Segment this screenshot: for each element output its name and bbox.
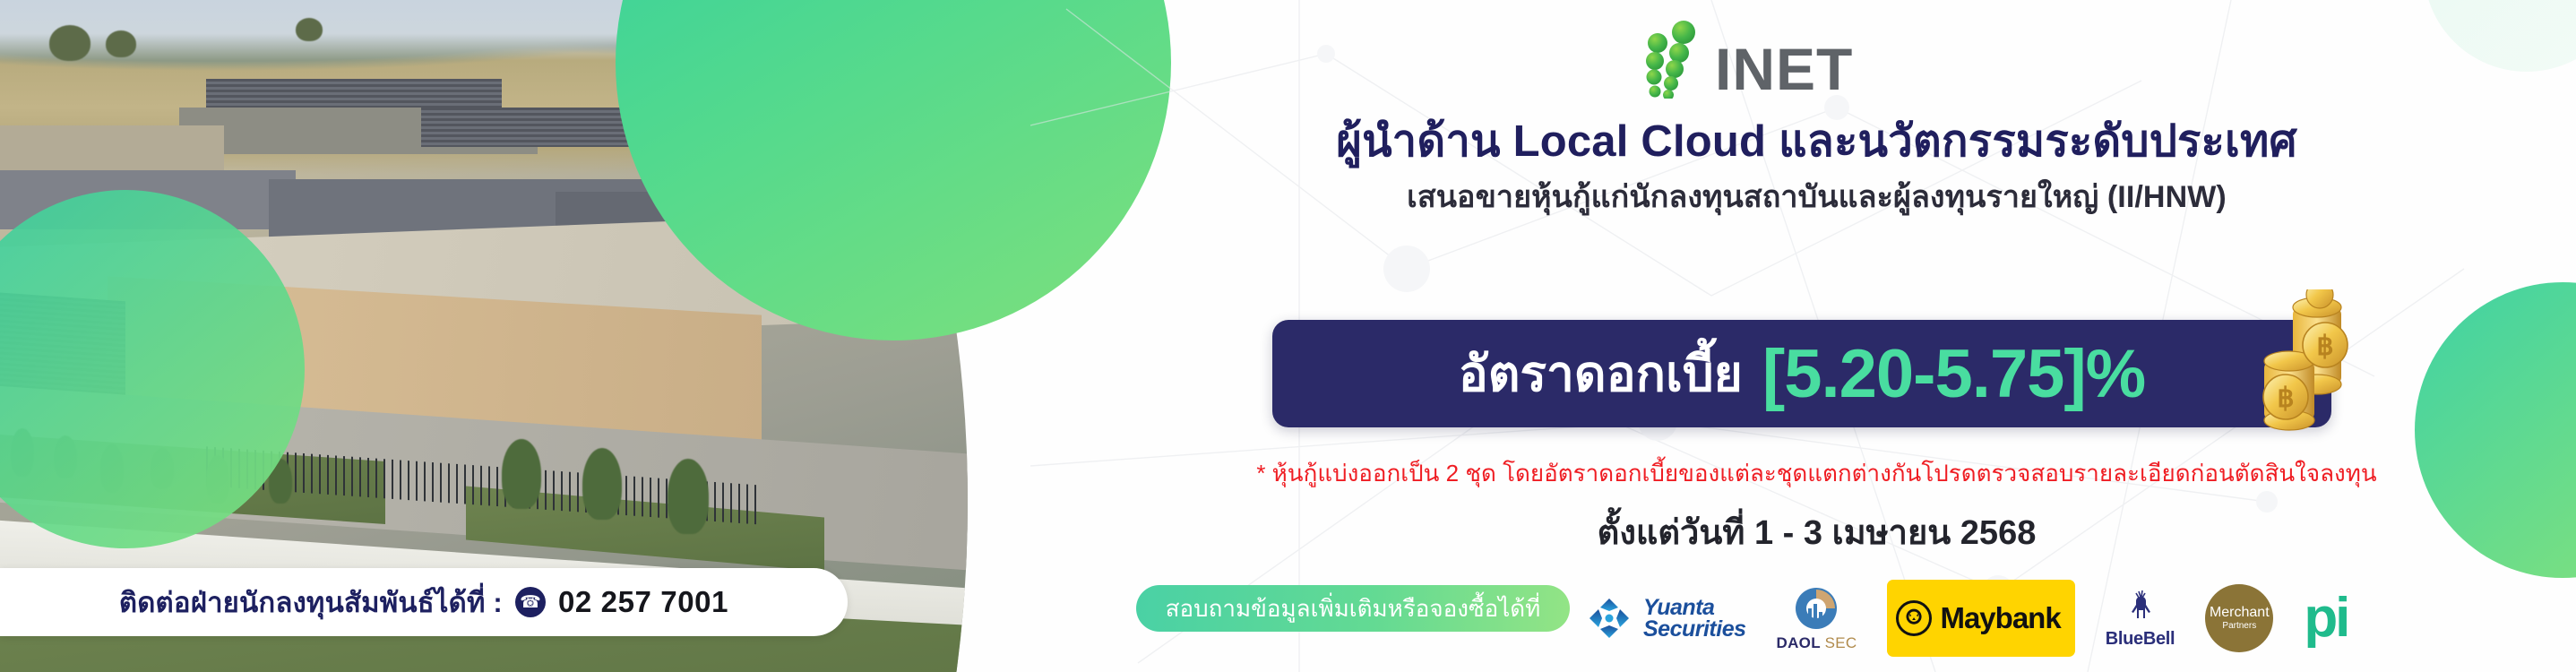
merchant-circle-icon: Merchant Partners [2205,584,2273,652]
svg-text:฿: ฿ [2277,383,2294,413]
daol-line2: SEC [1825,634,1857,651]
cta-row: สอบถามข้อมูลเพิ่มเติมหรือจองซื้อได้ที่ [1057,582,2576,659]
offer-dateline: ตั้งแต่วันที่ 1 - 3 เมษายน 2568 [1057,504,2576,559]
inet-dots-icon [1638,13,1724,99]
investor-contact-box[interactable]: ติดต่อฝ่ายนักลงทุนสัมพันธ์ได้ที่ : ☎ 02 … [0,568,848,636]
interest-rate-label: อัตราดอกเบี้ย [1459,335,1743,413]
subscribe-inquiry-button[interactable]: สอบถามข้อมูลเพิ่มเติมหรือจองซื้อได้ที่ [1136,585,1570,632]
partner-logo-yuanta[interactable]: Yuanta Securities [1586,580,1746,657]
contact-label: ติดต่อฝ่ายนักลงทุนสัมพันธ์ได้ที่ : [119,580,503,625]
partner-logo-pi[interactable]: pi [2304,580,2348,657]
content-panel: INET ผู้นำด้าน Local Cloud และนวัตกรรมระ… [1057,0,2576,672]
inet-logo[interactable]: INET [1638,13,1978,99]
disclaimer-text: * หุ้นกู้แบ่งออกเป็น 2 ชุด โดยอัตราดอกเบ… [1057,455,2576,492]
svg-text:฿: ฿ [2316,332,2333,361]
merchant-line2: Partners [2222,620,2256,632]
daol-circle-icon [1793,585,1839,632]
promo-banner: ติดต่อฝ่ายนักลงทุนสัมพันธ์ได้ที่ : ☎ 02 … [0,0,2576,672]
gold-coins-icon: ฿ ฿ [2246,289,2367,446]
partner-logo-daol[interactable]: DAOL SEC [1777,580,1857,657]
bluebell-deer-icon [2121,588,2160,627]
page-subtitle: เสนอขายหุ้นกู้แก่นักลงทุนสถาบันและผู้ลงท… [1057,172,2576,220]
inet-logo-text: INET [1715,35,1853,103]
partner-logo-maybank[interactable]: Maybank [1887,580,2074,657]
page-title: ผู้นำด้าน Local Cloud และนวัตกรรมระดับปร… [1057,106,2576,176]
maybank-wordmark: Maybank [1940,601,2060,635]
interest-rate-value: [5.20-5.75]% [1762,335,2145,413]
merchant-line1: Merchant [2210,606,2270,620]
partner-logos: Yuanta Securities DAOL [1586,577,2572,659]
maybank-tiger-icon [1896,600,1932,636]
yuanta-star-icon [1586,595,1633,642]
partner-logo-merchant[interactable]: Merchant Partners [2205,580,2273,657]
phone-icon: ☎ [515,587,546,617]
contact-phone-number[interactable]: 02 257 7001 [558,585,728,619]
partner-logo-bluebell[interactable]: BlueBell [2106,580,2175,657]
yuanta-line1: Yuanta [1643,597,1746,618]
yuanta-line2: Securities [1643,618,1746,640]
pi-wordmark: pi [2304,596,2348,641]
daol-line1: DAOL [1777,634,1821,651]
bluebell-wordmark: BlueBell [2106,629,2175,650]
interest-rate-banner: อัตราดอกเบี้ย [5.20-5.75]% [1272,320,2331,427]
